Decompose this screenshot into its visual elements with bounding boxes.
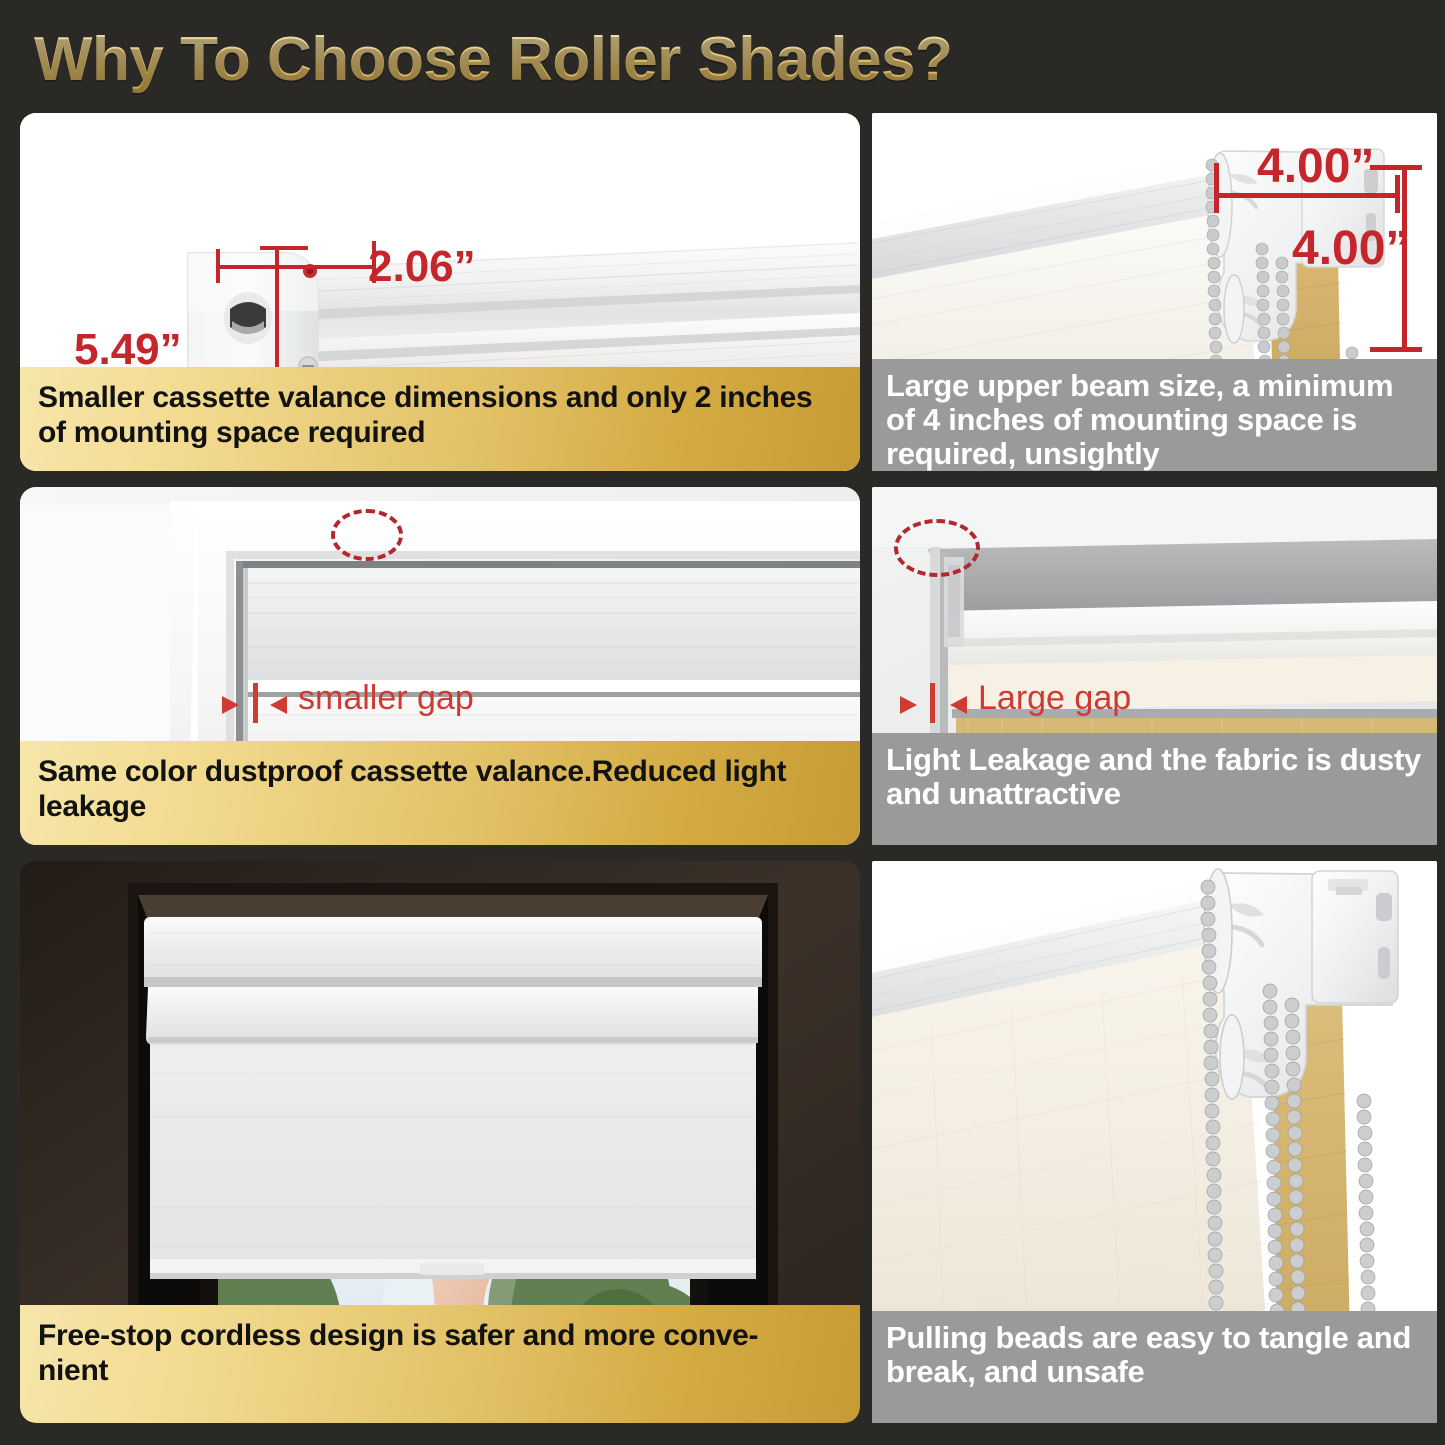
panel-5-caption: Free-stop cordless design is safer and m… xyxy=(20,1305,860,1423)
gap-highlight-ellipse xyxy=(331,509,403,561)
p2-width-dimension-label: 4.00” xyxy=(1257,139,1374,194)
panel-bottom-right: Pulling beads are easy to tangle and bre… xyxy=(872,861,1437,1423)
height-dimension-tick-top xyxy=(260,246,308,250)
gap-tick xyxy=(253,683,258,723)
panel-middle-left: smaller gap Same color dustproof cassett… xyxy=(20,487,860,845)
panel-2-caption: Large upper beam size, a minimum of 4 in… xyxy=(872,359,1437,471)
panel-4-caption: Light Leakage and the fabric is dusty an… xyxy=(872,733,1437,845)
p4-gap-tick xyxy=(930,683,935,723)
p2-width-dimension-tick-right xyxy=(1395,175,1400,213)
gap-arrow-right xyxy=(270,696,287,714)
page-title: Why To Choose Roller Shades? xyxy=(34,24,952,95)
infographic-root: Why To Choose Roller Shades? Why To Choo… xyxy=(0,0,1445,1445)
panel-1-caption: Smaller cassette valance dimensions and … xyxy=(20,367,860,471)
panel-6-caption: Pulling beads are easy to tangle and bre… xyxy=(872,1311,1437,1423)
p4-gap-arrow-left xyxy=(900,696,917,714)
p2-width-dimension-tick-left xyxy=(1214,163,1219,213)
gap-arrow-left xyxy=(222,696,239,714)
panel-5-caption-line1: Free-stop cordless design is safer and m… xyxy=(38,1319,758,1352)
panel-top-left: 2.06” 5.49” Smaller cassette valance dim… xyxy=(20,113,860,471)
width-dimension-label: 2.06” xyxy=(368,242,476,292)
panel-bottom-left: Free-stop cordless design is safer and m… xyxy=(20,861,860,1423)
p2-height-dimension-label: 4.00” xyxy=(1292,221,1409,276)
p4-gap-arrow-right xyxy=(950,696,967,714)
width-dimension-tick-left xyxy=(216,249,220,283)
panel-middle-right: Large gap Light Leakage and the fabric i… xyxy=(872,487,1437,845)
p2-height-dimension-tick-top xyxy=(1370,165,1422,170)
p2-height-dimension-tick-bottom xyxy=(1370,347,1422,352)
panel-top-right: 4.00” 4.00” Large upper beam size, a min… xyxy=(872,113,1437,471)
width-dimension-line xyxy=(216,265,376,269)
p4-gap-callout-label: Large gap xyxy=(978,679,1131,718)
gap-callout-label: smaller gap xyxy=(298,679,474,718)
p4-gap-highlight-ellipse xyxy=(894,519,980,577)
panel-5-caption-line2: nient xyxy=(38,1354,108,1387)
panel-3-caption: Same color dustproof cassette valance.Re… xyxy=(20,741,860,845)
